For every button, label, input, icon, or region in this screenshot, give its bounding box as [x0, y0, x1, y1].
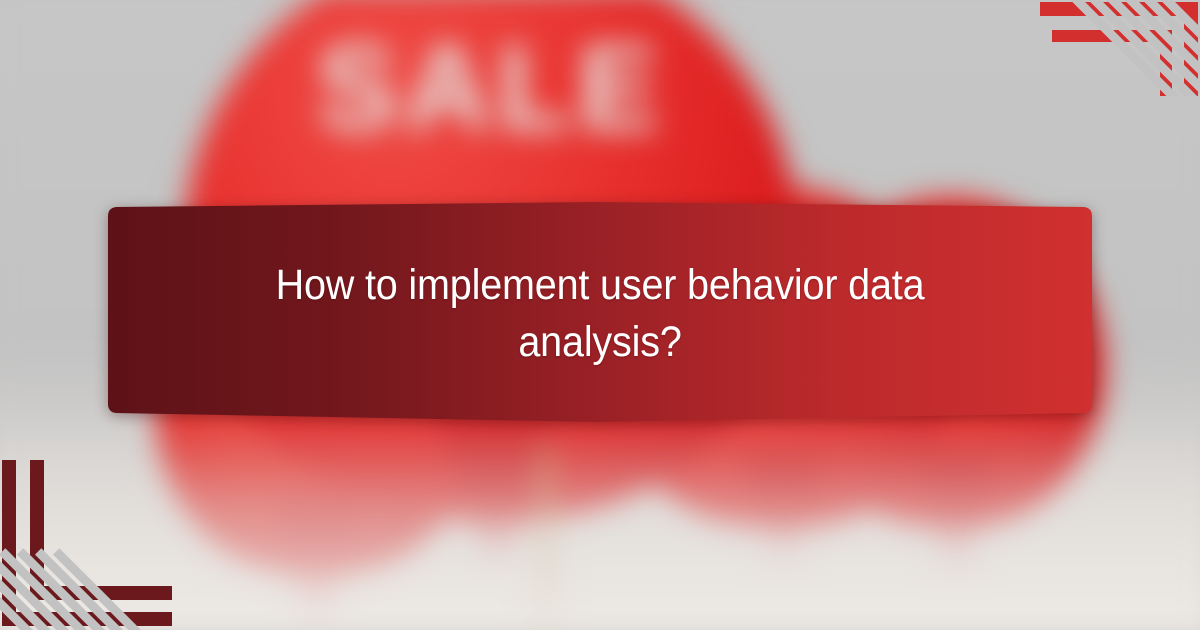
- corner-ornament-bottom-left: [0, 440, 172, 630]
- title-banner: How to implement user behavior data anal…: [98, 200, 1102, 428]
- corner-ornament-top-right: [1038, 0, 1200, 96]
- page-title: How to implement user behavior data anal…: [264, 257, 936, 371]
- background-sale-text: SALE: [184, 28, 798, 150]
- social-card: SALE: [0, 0, 1200, 630]
- background-floor-haze: [0, 403, 1200, 630]
- title-banner-text: How to implement user behavior data anal…: [178, 200, 1022, 428]
